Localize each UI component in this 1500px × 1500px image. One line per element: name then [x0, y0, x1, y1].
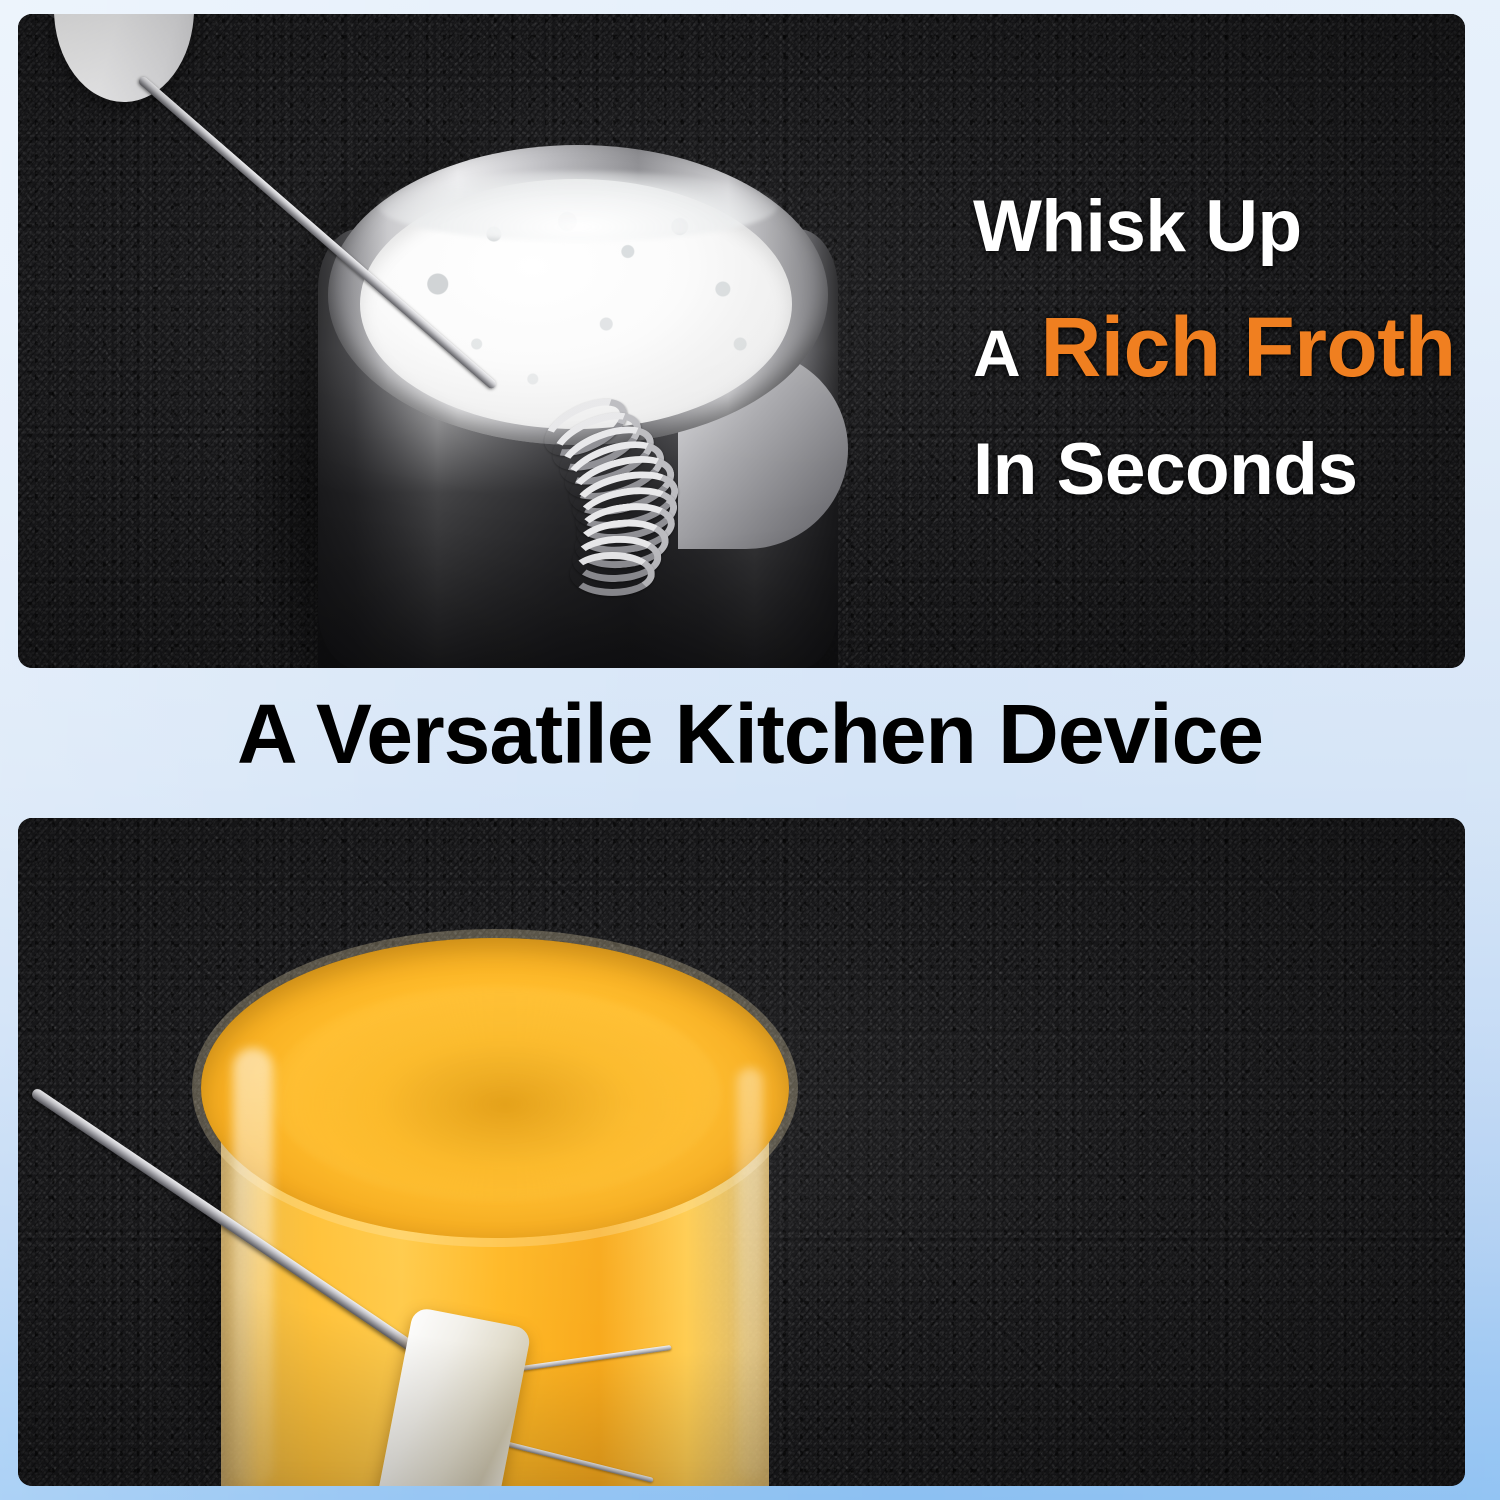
top-copy-line-2-accent: Rich Froth: [1041, 300, 1456, 394]
top-panel-copy: Whisk Up A Rich Froth In Seconds: [973, 190, 1456, 506]
top-copy-line-1: Whisk Up: [973, 190, 1456, 263]
top-copy-line-2: A Rich Froth: [973, 305, 1456, 389]
product-marketing-image: Whisk Up A Rich Froth In Seconds A Versa…: [0, 0, 1500, 1500]
top-photo-panel: Whisk Up A Rich Froth In Seconds: [18, 14, 1465, 668]
top-copy-line-3: In Seconds: [973, 433, 1456, 506]
bottom-photo-panel: Blending Soups and Whipping Cream: [18, 818, 1465, 1486]
panel-vignette: [18, 818, 1465, 1486]
top-copy-line-2-prefix: A: [973, 316, 1041, 390]
page-headline: A Versatile Kitchen Device: [0, 692, 1500, 776]
